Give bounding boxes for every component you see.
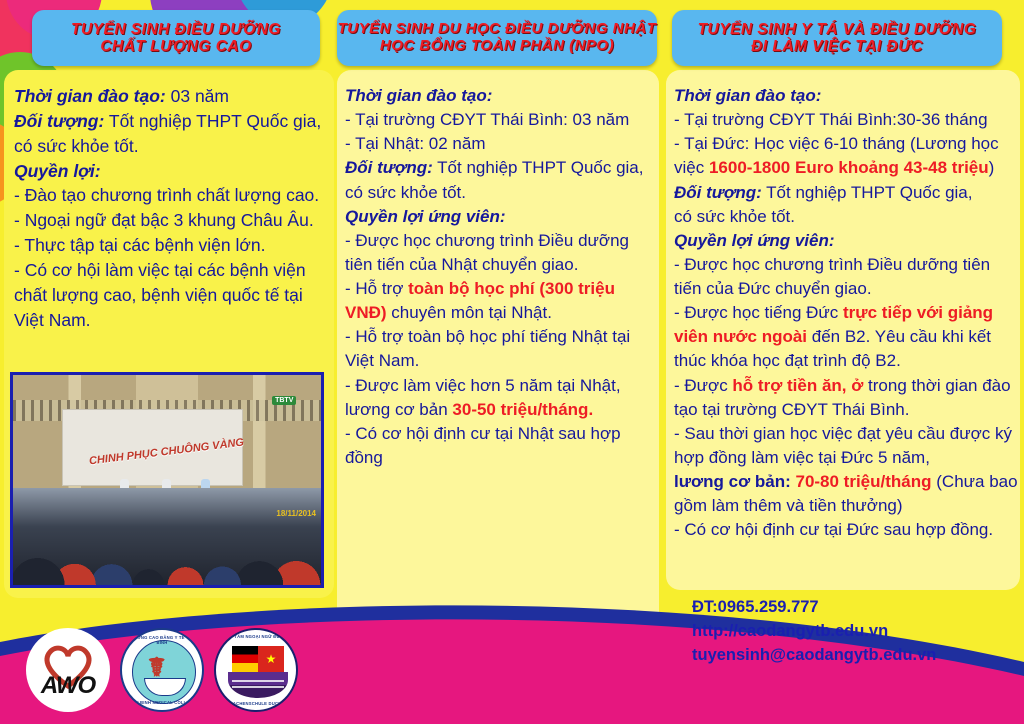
text-body-after: chuyên môn tại Nhật. <box>387 303 552 322</box>
text-body: Tốt nghiệp THPT Quốc gia, <box>433 158 644 177</box>
text-highlight: hỗ trợ tiền ăn, ở <box>732 376 863 395</box>
thai-binh-medical-college-logo: ☤ TRƯỜNG CAO ĐẲNG Y TẾ THÁI BÌNH THAI BI… <box>120 628 204 712</box>
text-body: - Ngoại ngữ đạt bậc 3 khung Châu Âu. <box>14 210 314 230</box>
text-line: - Có cơ hội làm việc tại các bệnh viện c… <box>14 258 332 333</box>
duc-viet-language-center-logo: ★ TRUNG TÂM NGOẠI NGỮ ĐỨC VIỆT SPRACHENS… <box>214 628 298 712</box>
header-line-1: TUYỂN SINH DU HỌC ĐIỀU DƯỠNG NHẬT <box>338 21 657 38</box>
text-body: - Được <box>674 376 732 395</box>
text-line: có sức khỏe tốt. <box>14 134 332 159</box>
text-line: - Đào tạo chương trình chất lượng cao. <box>14 183 332 208</box>
text-body: - Tại trường CĐYT Thái Bình:30-36 tháng <box>674 110 988 129</box>
photo-tv-logo: TBTV <box>272 396 296 405</box>
text-body: - Được học chương trình Điều dưỡng tiên … <box>674 255 990 298</box>
text-highlight: 1600-1800 Euro khoảng 43-48 triệu <box>709 158 989 177</box>
text-line: - Có cơ hội định cư tại Đức sau hợp đồng… <box>674 518 1020 542</box>
body-text-column-2: Thời gian đào tạo:- Tại trường CĐYT Thái… <box>345 84 657 470</box>
text-label: Quyền lợi ứng viên: <box>345 207 506 226</box>
contact-email[interactable]: tuyensinh@caodangytb.edu.vn <box>692 644 1022 668</box>
text-body: - Được học tiếng Đức <box>674 303 843 322</box>
text-line: - Tại trường CĐYT Thái Bình:30-36 tháng <box>674 108 1020 132</box>
text-label: Đối tượng: <box>14 111 104 131</box>
text-body: - Có cơ hội định cư tại Nhật sau hợp đồn… <box>345 424 621 467</box>
text-line: có sức khỏe tốt. <box>674 205 1020 229</box>
text-line: - Hỗ trợ toàn bộ học phí tiếng Nhật tại … <box>345 325 657 373</box>
text-line: - Sau thời gian học việc đạt yêu cầu đượ… <box>674 422 1020 470</box>
text-label: Đối tượng: <box>674 183 762 202</box>
text-line: Đối tượng: Tốt nghiệp THPT Quốc gia, <box>345 156 657 180</box>
body-text-column-3: Thời gian đào tạo:- Tại trường CĐYT Thái… <box>674 84 1020 542</box>
contact-website[interactable]: http://caodangytb.edu.vn <box>692 620 1022 644</box>
text-label: Quyền lợi ứng viên: <box>674 231 835 250</box>
text-label: Thời gian đào tạo: <box>345 86 492 105</box>
center-logo-bottom-text: SPRACHENSCHULE DUCVIET <box>216 701 296 706</box>
center-logo-top-text: TRUNG TÂM NGOẠI NGỮ ĐỨC VIỆT <box>216 634 296 639</box>
german-flag-icon <box>232 646 258 672</box>
awo-logo: AWO <box>26 628 110 712</box>
text-body: có sức khỏe tốt. <box>345 183 466 202</box>
text-label: Thời gian đào tạo: <box>674 86 821 105</box>
awo-logo-text: AWO <box>26 672 110 700</box>
text-line: Đối tượng: Tốt nghiệp THPT Quốc gia, <box>674 181 1020 205</box>
text-line: - Ngoại ngữ đạt bậc 3 khung Châu Âu. <box>14 208 332 233</box>
text-line: Quyền lợi ứng viên: <box>674 229 1020 253</box>
text-body: - Hỗ trợ toàn bộ học phí tiếng Nhật tại … <box>345 327 630 370</box>
text-line: - Được học chương trình Điều dưỡng tiên … <box>674 253 1020 301</box>
text-body: - Sau thời gian học việc đạt yêu cầu đượ… <box>674 424 1012 467</box>
text-body: - Có cơ hội làm việc tại các bệnh viện c… <box>14 260 306 330</box>
text-body: - Hỗ trợ <box>345 279 408 298</box>
photo-crowd <box>13 488 321 585</box>
text-line: - Được làm việc hơn 5 năm tại Nhật, lươn… <box>345 374 657 422</box>
college-logo-top-text: TRƯỜNG CAO ĐẲNG Y TẾ THÁI BÌNH <box>122 635 202 645</box>
text-line: có sức khỏe tốt. <box>345 181 657 205</box>
photo-date-stamp: 18/11/2014 <box>276 509 316 518</box>
text-line: - Được hỗ trợ tiền ăn, ở trong thời gian… <box>674 374 1020 422</box>
text-body: - Tại trường CĐYT Thái Bình: 03 năm <box>345 110 629 129</box>
text-line: Quyền lợi ứng viên: <box>345 205 657 229</box>
text-label: Quyền lợi: <box>14 161 101 181</box>
text-label: Đối tượng: <box>345 158 433 177</box>
text-line: - Tại trường CĐYT Thái Bình: 03 năm <box>345 108 657 132</box>
text-line: - Thực tập tại các bệnh viện lớn. <box>14 233 332 258</box>
text-body: 03 năm <box>166 86 229 106</box>
header-line-2: HỌC BỔNG TOÀN PHẦN (NPO) <box>380 38 614 55</box>
text-body-after: ) <box>989 158 995 177</box>
text-line: Thời gian đào tạo: 03 năm <box>14 84 332 109</box>
text-body: - Được học chương trình Điều dưỡng tiên … <box>345 231 629 274</box>
text-label: Thời gian đào tạo: <box>14 86 166 106</box>
text-body: - Đào tạo chương trình chất lượng cao. <box>14 185 319 205</box>
vietnam-flag-icon: ★ <box>258 646 284 672</box>
text-line: lương cơ bản: 70-80 triệu/tháng (Chưa ba… <box>674 470 1020 518</box>
header-badge-column-1: TUYỂN SINH ĐIỀU DƯỠNG CHẤT LƯỢNG CAO <box>32 10 320 66</box>
text-highlight: 70-80 triệu/tháng <box>795 472 931 491</box>
book-icon <box>228 672 288 698</box>
contact-phone: ĐT:0965.259.777 <box>692 596 1022 620</box>
text-line: - Được học chương trình Điều dưỡng tiên … <box>345 229 657 277</box>
text-line: Đối tượng: Tốt nghiệp THPT Quốc gia, <box>14 109 332 134</box>
text-body: - Thực tập tại các bệnh viện lớn. <box>14 235 265 255</box>
text-body: Tốt nghiệp THPT Quốc gia, <box>762 183 973 202</box>
header-line-1: TUYỂN SINH Y TÁ VÀ ĐIỀU DƯỠNG <box>698 21 977 38</box>
contact-block: ĐT:0965.259.777 http://caodangytb.edu.vn… <box>692 596 1022 668</box>
text-line: Quyền lợi: <box>14 159 332 184</box>
text-line: Thời gian đào tạo: <box>345 84 657 108</box>
header-line-2: ĐI LÀM VIỆC TẠI ĐỨC <box>751 38 923 55</box>
text-line: - Được học tiếng Đức trực tiếp với giảng… <box>674 301 1020 373</box>
text-body: - Có cơ hội định cư tại Đức sau hợp đồng… <box>674 520 993 539</box>
body-text-column-1: Thời gian đào tạo: 03 nămĐối tượng: Tốt … <box>14 84 332 332</box>
college-logo-bottom-text: THAI BINH MEDICAL COLLEGE <box>122 700 202 705</box>
header-line-2: CHẤT LƯỢNG CAO <box>100 38 251 55</box>
text-line: Thời gian đào tạo: <box>674 84 1020 108</box>
school-event-photo: TBTV CHINH PHỤC CHUÔNG VÀNG LẦN THỨ 5 - … <box>10 372 324 588</box>
text-body: có sức khỏe tốt. <box>674 207 795 226</box>
text-line: - Hỗ trợ toàn bộ học phí (300 triệu VNĐ)… <box>345 277 657 325</box>
text-body: Tốt nghiệp THPT Quốc gia, <box>104 111 321 131</box>
header-badge-column-3: TUYỂN SINH Y TÁ VÀ ĐIỀU DƯỠNG ĐI LÀM VIỆ… <box>672 10 1002 66</box>
poster-root: TUYỂN SINH ĐIỀU DƯỠNG CHẤT LƯỢNG CAO TUY… <box>0 0 1024 724</box>
text-line: - Tại Nhật: 02 năm <box>345 132 657 156</box>
text-line: - Có cơ hội định cư tại Nhật sau hợp đồn… <box>345 422 657 470</box>
text-line: - Tại Đức: Học việc 6-10 tháng (Lương họ… <box>674 132 1020 180</box>
text-bold-label: lương cơ bản: <box>674 472 795 491</box>
flags-icon: ★ <box>232 646 284 672</box>
text-highlight: 30-50 triệu/tháng. <box>452 400 593 419</box>
text-body: - Tại Nhật: 02 năm <box>345 134 485 153</box>
header-line-1: TUYỂN SINH ĐIỀU DƯỠNG <box>71 21 281 38</box>
text-body: có sức khỏe tốt. <box>14 136 139 156</box>
header-badge-column-2: TUYỂN SINH DU HỌC ĐIỀU DƯỠNG NHẬT HỌC BỔ… <box>337 10 657 66</box>
